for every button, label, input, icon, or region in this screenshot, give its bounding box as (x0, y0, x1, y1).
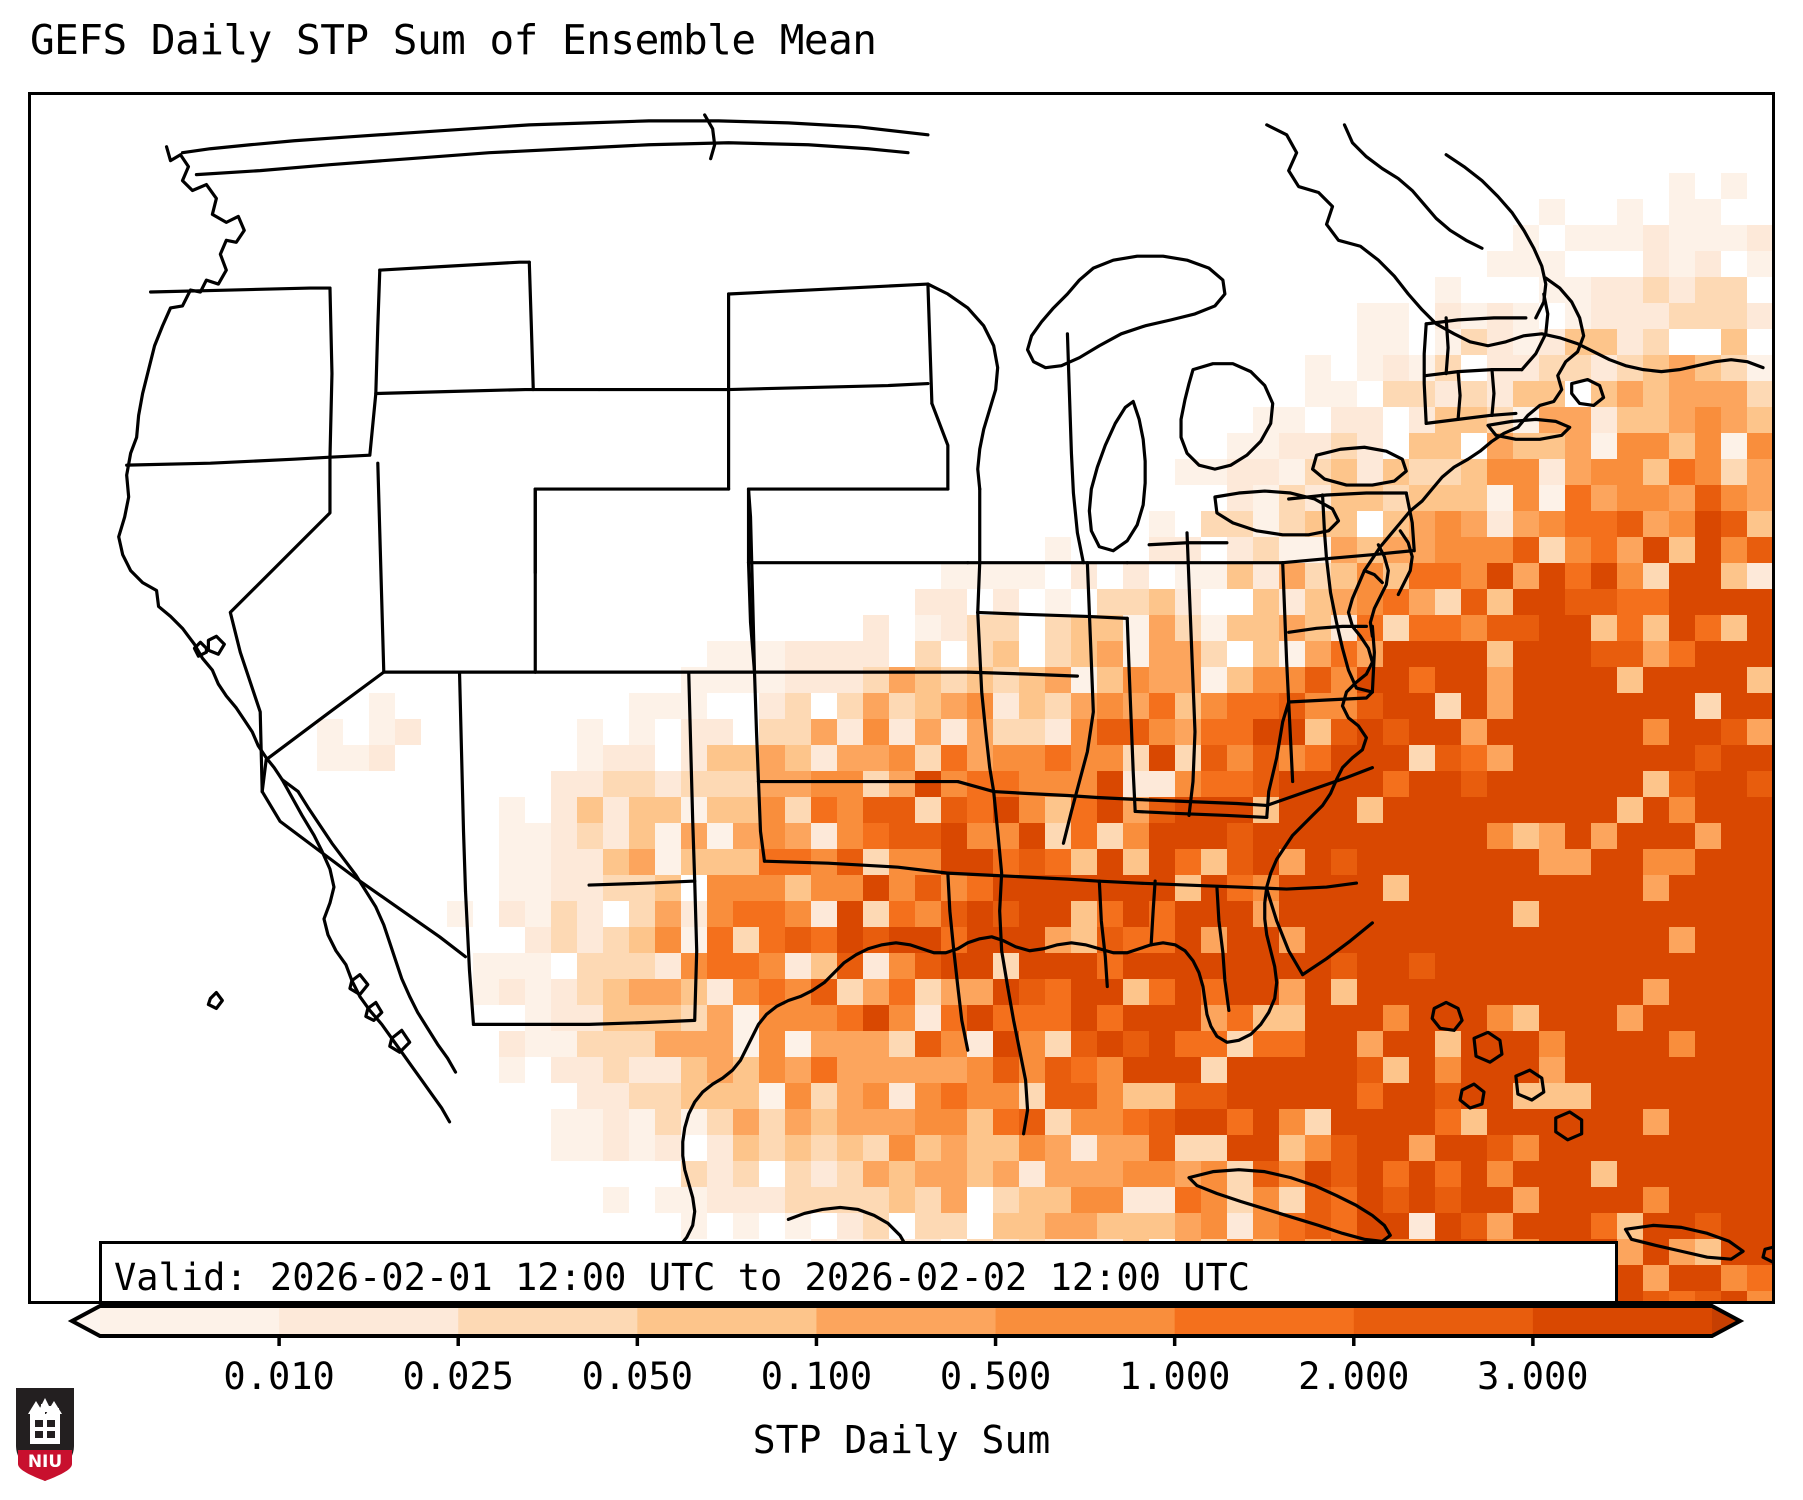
map-canvas (31, 95, 1772, 1301)
colorbar-tick-label: 0.010 (223, 1355, 334, 1398)
heatmap-cell (1773, 329, 1775, 355)
heatmap-cell (1773, 1135, 1775, 1161)
heatmap-cell (1773, 433, 1775, 459)
heatmap-cell (1773, 1187, 1775, 1213)
heatmap-cell (1773, 641, 1775, 667)
heatmap-cell (1773, 277, 1775, 303)
map-frame: Valid: 2026-02-01 12:00 UTC to 2026-02-0… (28, 92, 1775, 1304)
heatmap-cell (1773, 459, 1775, 485)
heatmap-cell (1773, 1057, 1775, 1083)
colorbar-tick-label: 0.025 (403, 1355, 514, 1398)
info-box: Valid: 2026-02-01 12:00 UTC to 2026-02-0… (99, 1241, 1618, 1304)
heatmap-cell (1773, 1031, 1775, 1057)
colorbar-axis-label: STP Daily Sum (0, 1418, 1803, 1462)
heatmap-cell (1773, 979, 1775, 1005)
colorbar-tick-label: 0.100 (761, 1355, 872, 1398)
heatmap-cell (1773, 875, 1775, 901)
colorbar-gradient (0, 1300, 1803, 1346)
heatmap-cell (1773, 303, 1775, 329)
niu-logo-text: NIU (28, 1452, 62, 1472)
heatmap-cell (1773, 1005, 1775, 1031)
heatmap-cell (1773, 381, 1775, 407)
heatmap-cell (1773, 511, 1775, 537)
heatmap-cell (1773, 927, 1775, 953)
geography-overlay (31, 95, 1772, 1301)
heatmap-cell (1773, 615, 1775, 641)
colorbar (0, 1300, 1803, 1346)
heatmap-cell (1773, 485, 1775, 511)
heatmap-cell (1773, 1265, 1775, 1291)
colorbar-tick-label: 1.000 (1119, 1355, 1230, 1398)
heatmap-cell (1773, 1213, 1775, 1239)
heatmap-cell (1773, 667, 1775, 693)
heatmap-cell (1773, 745, 1775, 771)
heatmap-cell (1773, 563, 1775, 589)
heatmap-cell (1773, 693, 1775, 719)
heatmap-cell (1773, 1239, 1775, 1265)
heatmap-cell (1773, 355, 1775, 381)
heatmap-cell (1773, 1109, 1775, 1135)
heatmap-cell (1773, 901, 1775, 927)
page-title: GEFS Daily STP Sum of Ensemble Mean (30, 16, 876, 64)
niu-shield-logo: NIU (14, 1384, 76, 1484)
colorbar-tick-labels: 0.0100.0250.0500.1000.5001.0002.0003.000 (0, 1355, 1803, 1401)
colorbar-tick-label: 3.000 (1477, 1355, 1588, 1398)
colorbar-tick-label: 0.500 (940, 1355, 1051, 1398)
heatmap-cell (1773, 1161, 1775, 1187)
heatmap-cell (1773, 251, 1775, 277)
heatmap-cell (1773, 771, 1775, 797)
heatmap-cell (1773, 849, 1775, 875)
heatmap-cell (1773, 589, 1775, 615)
heatmap-cell (1773, 823, 1775, 849)
heatmap-cell (1773, 1083, 1775, 1109)
colorbar-tick-label: 0.050 (582, 1355, 693, 1398)
colorbar-tick-label: 2.000 (1298, 1355, 1409, 1398)
valid-time-line: Valid: 2026-02-01 12:00 UTC to 2026-02-0… (114, 1250, 1615, 1304)
heatmap-cell (1773, 225, 1775, 251)
heatmap-cell (1773, 537, 1775, 563)
heatmap-cell (1773, 797, 1775, 823)
heatmap-cell (1773, 407, 1775, 433)
heatmap-cell (1773, 953, 1775, 979)
heatmap-cell (1773, 719, 1775, 745)
